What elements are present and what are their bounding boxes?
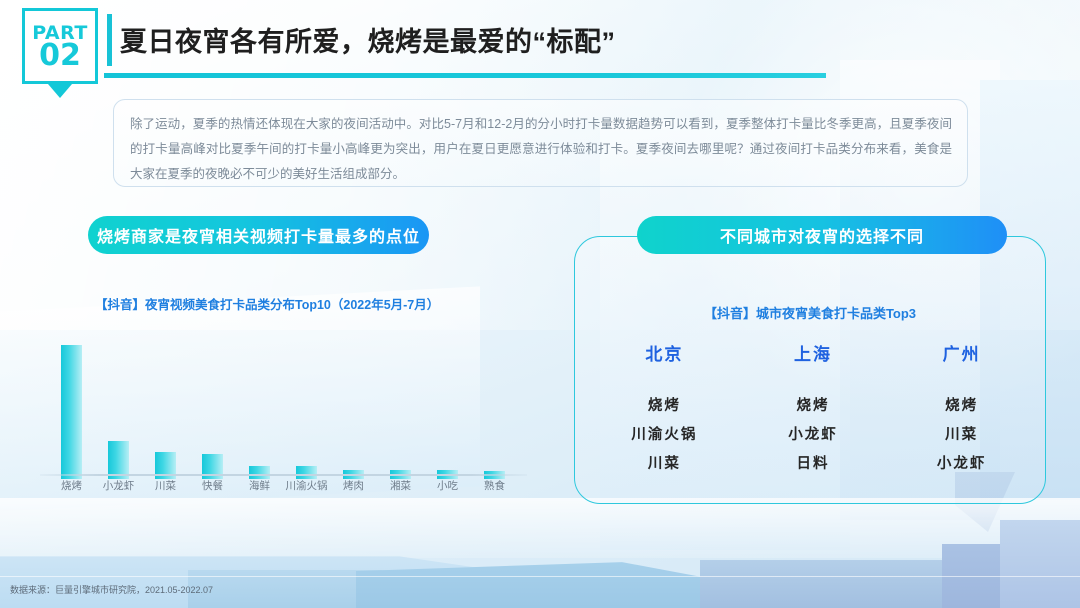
chart-x-tick-labels: 烧烤小龙虾川菜快餐海鲜川渝火锅烤肉湘菜小吃熟食	[48, 478, 518, 498]
city-category-item: 川渝火锅	[631, 421, 697, 450]
bar-cell	[48, 338, 95, 479]
chart-x-label: 海鲜	[236, 478, 283, 498]
footer-divider	[0, 576, 1080, 577]
title-underline	[104, 73, 826, 78]
part-number: 02	[39, 42, 81, 69]
part-badge: PART 02	[22, 8, 106, 102]
bar-cell	[471, 338, 518, 479]
data-source-note: 数据来源：巨量引擎城市研究院，2021.05-2022.07	[10, 583, 213, 596]
title-accent-bar	[107, 14, 112, 66]
city-name: 上海	[794, 340, 832, 365]
background-building-6	[1000, 520, 1080, 608]
city-name: 广州	[943, 340, 981, 365]
background-building-4	[700, 560, 950, 608]
chart-x-label: 湘菜	[377, 478, 424, 498]
city-category-item: 日料	[797, 450, 830, 479]
city-columns: 北京烧烤川渝火锅川菜上海烧烤小龙虾日料广州烧烤川菜小龙虾	[590, 340, 1036, 488]
city-name: 北京	[645, 340, 683, 365]
bar-cell	[424, 338, 471, 479]
city-category-item: 小龙虾	[788, 421, 838, 450]
chart-title: 【抖音】夜宵视频美食打卡品类分布Top10（2022年5月-7月）	[95, 294, 535, 313]
chart-x-axis	[40, 474, 527, 476]
chart-x-label: 小吃	[424, 478, 471, 498]
bar	[249, 466, 270, 479]
city-column: 北京烧烤川渝火锅川菜	[590, 340, 739, 488]
bar-cell	[236, 338, 283, 479]
background-haze	[0, 498, 1080, 558]
bar-cell	[283, 338, 330, 479]
intro-card: 除了运动，夏季的热情还体现在大家的夜间活动中。对比5-7月和12-2月的分小时打…	[113, 99, 968, 187]
city-category-item: 烧烤	[797, 392, 830, 421]
bar-series	[48, 338, 518, 479]
part-badge-pointer-icon	[48, 84, 72, 98]
chart-x-label: 小龙虾	[95, 478, 142, 498]
city-category-item: 烧烤	[648, 392, 681, 421]
chart-x-label: 烧烤	[48, 478, 95, 498]
intro-paragraph: 除了运动，夏季的热情还体现在大家的夜间活动中。对比5-7月和12-2月的分小时打…	[130, 112, 952, 187]
bar-cell	[142, 338, 189, 479]
part-badge-box: PART 02	[22, 8, 98, 84]
bar-chart	[48, 334, 518, 479]
chart-x-label: 川菜	[142, 478, 189, 498]
bar-cell	[330, 338, 377, 479]
city-category-item: 小龙虾	[937, 450, 987, 479]
city-category-item: 川菜	[945, 421, 978, 450]
chart-x-label: 川渝火锅	[283, 478, 330, 498]
city-panel-title: 【抖音】城市夜宵美食打卡品类Top3	[574, 303, 1046, 322]
bar-cell	[95, 338, 142, 479]
chart-x-label: 熟食	[471, 478, 518, 498]
chart-x-label: 烤肉	[330, 478, 377, 498]
chart-x-label: 快餐	[189, 478, 236, 498]
section-pill-left: 烧烤商家是夜宵相关视频打卡量最多的点位	[88, 216, 429, 254]
city-category-item: 烧烤	[945, 392, 978, 421]
bar-cell	[189, 338, 236, 479]
city-category-item: 川菜	[648, 450, 681, 479]
page-title: 夏日夜宵各有所爱，烧烤是最爱的“标配”	[120, 20, 880, 62]
section-pill-right: 不同城市对夜宵的选择不同	[637, 216, 1007, 254]
bar	[61, 345, 82, 479]
bar-cell	[377, 338, 424, 479]
bar	[296, 466, 317, 479]
city-column: 广州烧烤川菜小龙虾	[887, 340, 1036, 488]
city-column: 上海烧烤小龙虾日料	[739, 340, 888, 488]
slide-canvas: PART 02 夏日夜宵各有所爱，烧烤是最爱的“标配” 除了运动，夏季的热情还体…	[0, 0, 1080, 608]
